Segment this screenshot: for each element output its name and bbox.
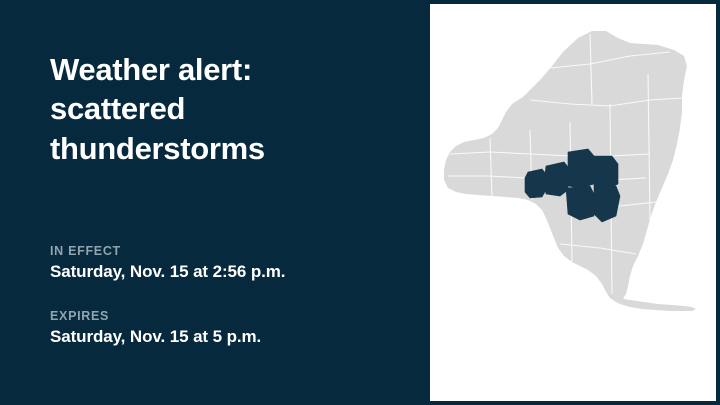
- highlighted-county-5: [566, 186, 594, 220]
- expires-label: EXPIRES: [50, 309, 261, 324]
- highlighted-county-1: [525, 169, 546, 198]
- weather-alert-card: Weather alert: scattered thunderstorms I…: [0, 0, 720, 405]
- expires-block: EXPIRES Saturday, Nov. 15 at 5 p.m.: [50, 309, 261, 347]
- map-panel: [430, 4, 716, 401]
- in-effect-block: IN EFFECT Saturday, Nov. 15 at 2:56 p.m.: [50, 244, 285, 282]
- in-effect-value: Saturday, Nov. 15 at 2:56 p.m.: [50, 262, 285, 282]
- highlighted-county-4: [594, 156, 618, 190]
- new-york-state-map: [430, 4, 716, 401]
- expires-value: Saturday, Nov. 15 at 5 p.m.: [50, 327, 261, 347]
- in-effect-label: IN EFFECT: [50, 244, 285, 259]
- highlighted-county-2: [544, 162, 568, 196]
- long-island-outline: [614, 298, 696, 311]
- highlighted-county-3: [568, 149, 594, 188]
- page-title: Weather alert: scattered thunderstorms: [50, 50, 360, 168]
